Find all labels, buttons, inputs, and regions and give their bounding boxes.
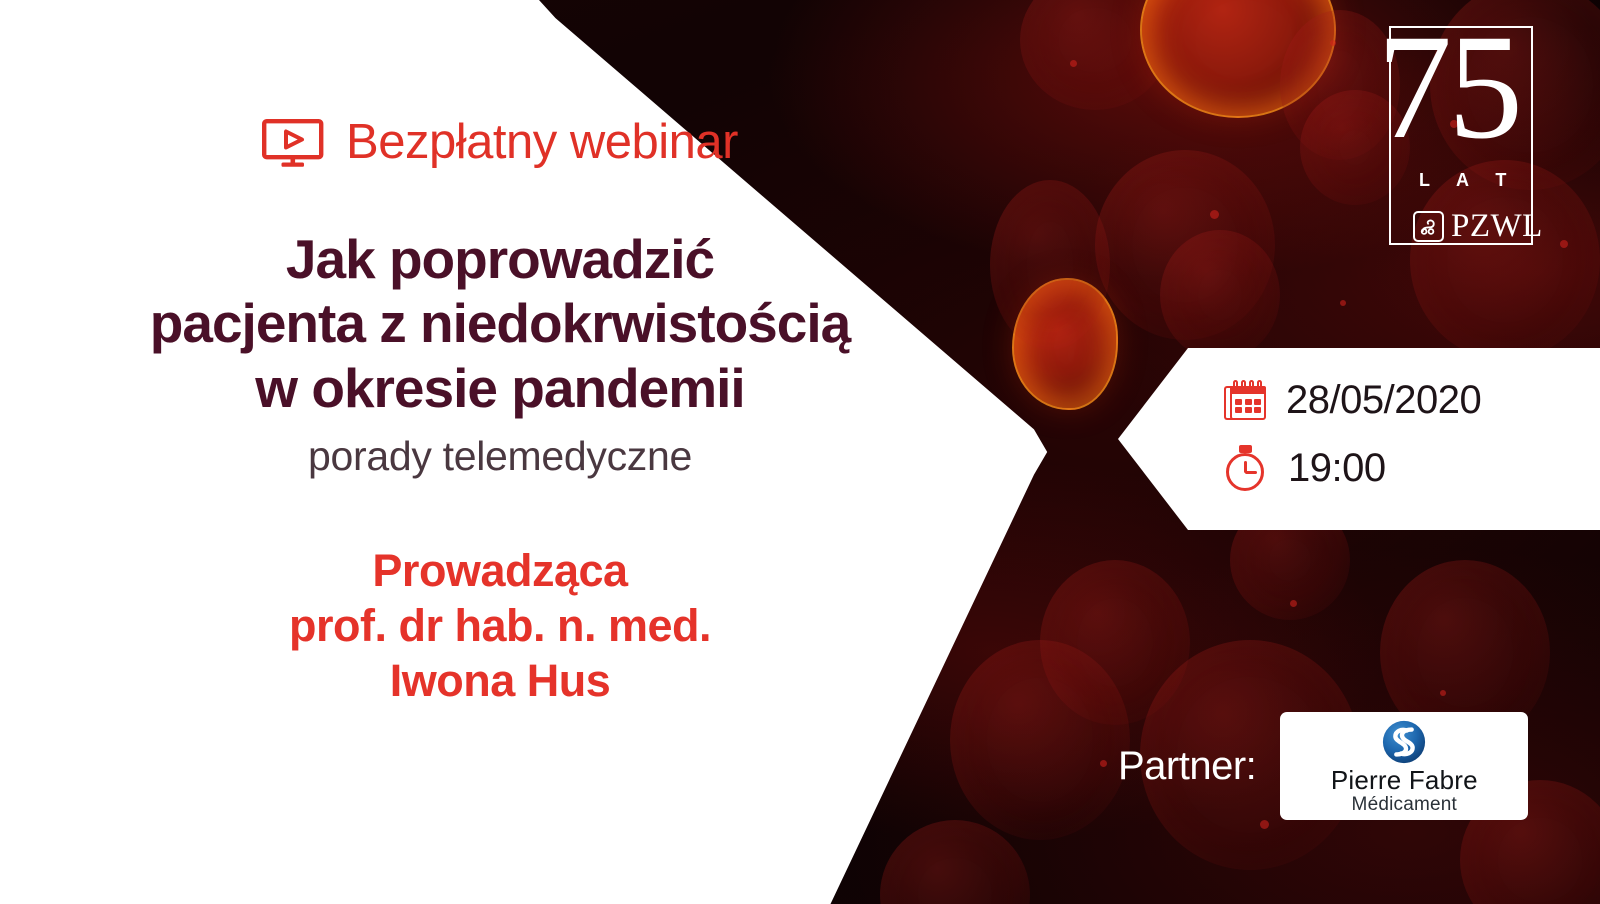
pzwl-logo: PZWL	[1413, 210, 1543, 243]
presenter-role: Prowadząca	[289, 544, 711, 599]
left-content: Bezpłatny webinar Jak poprowadzić pacjen…	[0, 0, 1000, 904]
kicker-label: Bezpłatny webinar	[346, 118, 738, 167]
clock-icon	[1224, 445, 1268, 491]
event-date: 28/05/2020	[1286, 378, 1481, 423]
partner-name: Pierre Fabre	[1331, 767, 1478, 793]
headline-line-2: pacjenta z niedokrwistością	[150, 291, 850, 355]
calendar-icon	[1224, 380, 1266, 422]
anniversary-word: L A T	[1419, 170, 1517, 191]
anniversary-logo: 75 L A T PZWL	[1389, 26, 1533, 245]
snake-bowl-icon	[1413, 211, 1444, 242]
event-time-row: 19:00	[1224, 445, 1600, 491]
kicker: Bezpłatny webinar	[262, 118, 738, 167]
anniversary-number: 75	[1377, 12, 1519, 162]
pierre-fabre-swoosh-icon	[1381, 719, 1427, 767]
event-time: 19:00	[1288, 446, 1386, 491]
event-date-row: 28/05/2020	[1224, 378, 1600, 423]
headline-line-1: Jak poprowadzić	[150, 227, 850, 291]
partner-sub: Médicament	[1352, 793, 1458, 818]
presenter-titles: prof. dr hab. n. med.	[289, 599, 711, 654]
page-title: Jak poprowadzić pacjenta z niedokrwistoś…	[150, 227, 850, 420]
partner-logo-card: Pierre Fabre Médicament	[1280, 712, 1528, 820]
partner-label: Partner:	[1118, 744, 1256, 789]
presenter-name: Iwona Hus	[289, 654, 711, 709]
event-info-card: 28/05/2020 19:00	[1118, 348, 1600, 530]
page-subtitle: porady telemedyczne	[308, 433, 692, 480]
monitor-play-icon	[262, 119, 324, 167]
webinar-banner: Bezpłatny webinar Jak poprowadzić pacjen…	[0, 0, 1600, 904]
partner-section: Partner: Pierre Fabre Méd	[1118, 712, 1528, 820]
pzwl-wordmark: PZWL	[1451, 210, 1543, 243]
presenter-block: Prowadząca prof. dr hab. n. med. Iwona H…	[289, 544, 711, 709]
headline-line-3: w okresie pandemii	[150, 356, 850, 420]
